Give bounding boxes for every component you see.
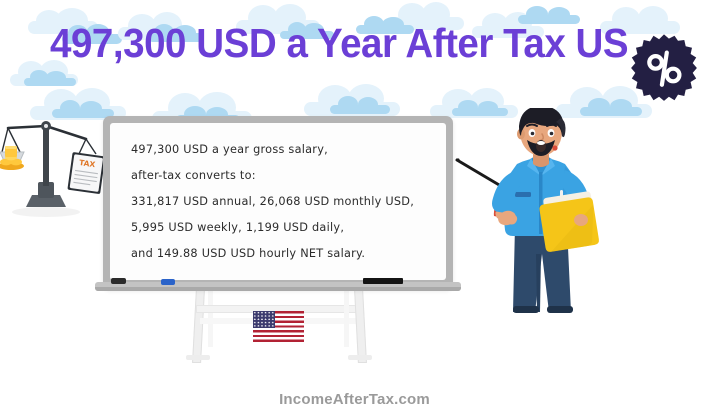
infographic-canvas: 497,300 USD a Year After Tax US <box>0 0 709 419</box>
percent-badge-icon <box>629 33 699 103</box>
whiteboard-line-3: 331,817 USD annual, 26,068 USD monthly U… <box>131 189 432 215</box>
tax-document-icon: TAX <box>67 152 105 194</box>
stand-foot-right <box>348 355 372 360</box>
stand-foot-left <box>186 355 210 360</box>
stand-leg-right-inner <box>344 289 349 347</box>
cloud-decoration <box>24 70 76 86</box>
presenter-man-illustration <box>455 108 625 313</box>
stand-leg-left <box>192 289 205 363</box>
folder-icon <box>538 191 600 253</box>
whiteboard-text: 497,300 USD a year gross salary, after-t… <box>131 137 432 267</box>
flag-canton <box>253 311 275 328</box>
eraser-icon <box>111 278 126 284</box>
whiteboard: 497,300 USD a year gross salary, after-t… <box>103 116 453 289</box>
black-marker-icon <box>363 278 403 284</box>
cloud-decoration <box>304 84 400 116</box>
stand-leg-right <box>354 289 367 363</box>
us-flag-icon <box>253 311 304 342</box>
whiteboard-stand <box>178 289 378 361</box>
whiteboard-tray <box>95 282 461 291</box>
site-watermark: IncomeAfterTax.com <box>0 391 709 408</box>
whiteboard-line-1: 497,300 USD a year gross salary, <box>131 137 432 163</box>
whiteboard-line-5: and 149.88 USD USD hourly NET salary. <box>131 241 432 267</box>
page-title: 497,300 USD a Year After Tax US <box>50 22 633 65</box>
whiteboard-line-4: 5,995 USD weekly, 1,199 USD daily, <box>131 215 432 241</box>
balance-scales-icon: TAX <box>0 112 108 222</box>
whiteboard-surface: 497,300 USD a year gross salary, after-t… <box>110 123 446 280</box>
whiteboard-line-2: after-tax converts to: <box>131 163 432 189</box>
cloud-decoration <box>330 96 390 114</box>
blue-marker-icon <box>161 279 175 285</box>
